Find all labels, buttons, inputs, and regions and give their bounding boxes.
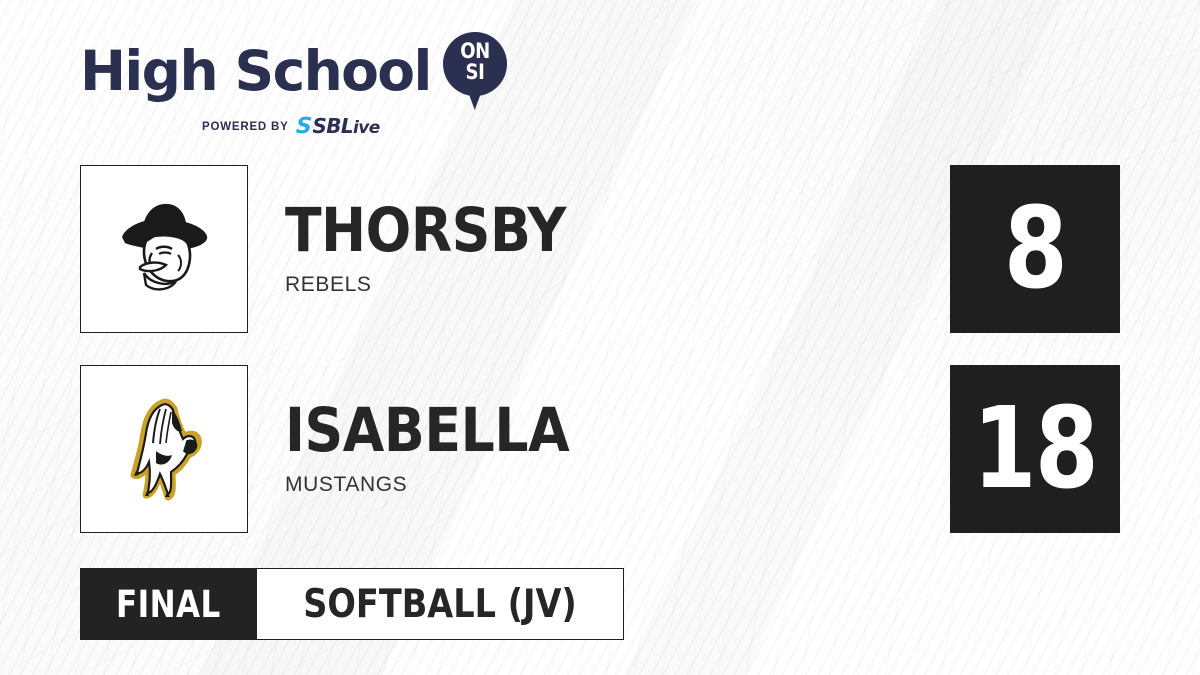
score-value: 18 bbox=[973, 394, 1098, 504]
team-logo-box-thorsby bbox=[80, 165, 248, 333]
powered-by-row: POWERED BY S SBLive bbox=[202, 116, 520, 138]
sport-label: SOFTBALL (JV) bbox=[303, 585, 577, 624]
pin-text-si: SI bbox=[447, 62, 502, 83]
high-school-wordmark: High School bbox=[80, 45, 431, 97]
score-box-thorsby: 8 bbox=[950, 165, 1120, 333]
sblive-word-upper: SBL bbox=[312, 114, 353, 138]
pin-text-on: ON bbox=[447, 41, 502, 62]
scoreboard-graphic: High School ON SI POWERED BY S SBLive bbox=[0, 0, 1200, 675]
team-mascot: MUSTANGS bbox=[285, 473, 608, 497]
rebel-colonel-logo-icon bbox=[104, 189, 224, 309]
pin-text: ON SI bbox=[443, 41, 507, 83]
status-bar: FINAL SOFTBALL (JV) bbox=[80, 568, 624, 640]
team-name: ISABELLA bbox=[285, 401, 569, 461]
game-state-badge: FINAL bbox=[80, 568, 257, 640]
powered-by-label: POWERED BY bbox=[202, 121, 289, 133]
brand-row: High School ON SI bbox=[80, 32, 520, 110]
team-mascot: REBELS bbox=[285, 273, 604, 297]
team-logo-box-isabella bbox=[80, 365, 248, 533]
sblive-word-lower: ive bbox=[353, 118, 380, 138]
team-name: THORSBY bbox=[285, 201, 566, 261]
mustang-horse-logo-icon bbox=[104, 389, 224, 509]
score-value: 8 bbox=[1004, 194, 1066, 304]
sblive-s-icon: S bbox=[295, 117, 310, 137]
team-text-block: THORSBY REBELS bbox=[285, 201, 604, 297]
sport-badge: SOFTBALL (JV) bbox=[257, 568, 624, 640]
sblive-wordmark: SBLive bbox=[312, 116, 379, 138]
team-text-block: ISABELLA MUSTANGS bbox=[285, 401, 608, 497]
team-row: THORSBY REBELS bbox=[80, 165, 604, 333]
score-box-isabella: 18 bbox=[950, 365, 1120, 533]
on-si-pin-icon: ON SI bbox=[443, 32, 507, 110]
team-row: ISABELLA MUSTANGS bbox=[80, 365, 608, 533]
brand-header: High School ON SI POWERED BY S SBLive bbox=[80, 32, 520, 138]
game-state-label: FINAL bbox=[116, 586, 221, 623]
sblive-logo: S SBLive bbox=[296, 116, 380, 138]
